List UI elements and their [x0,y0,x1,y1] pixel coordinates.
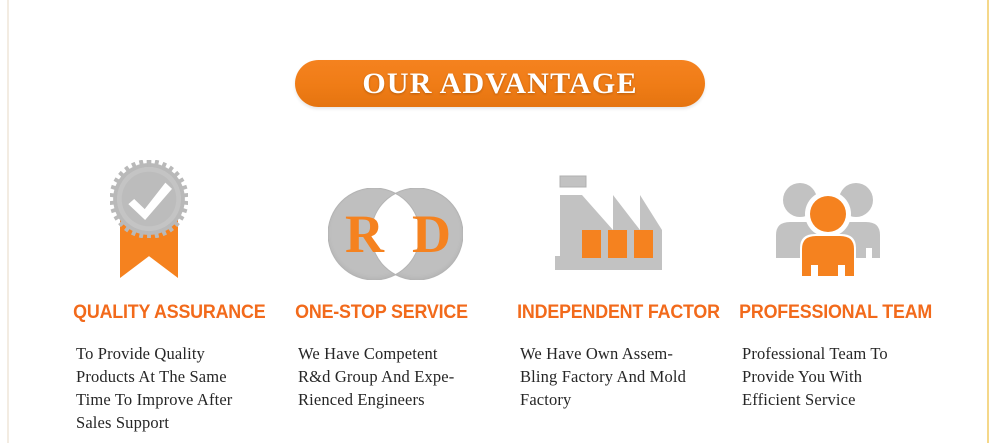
body-line: Bling Factory And Mold [520,365,720,388]
icon-container: R D [282,152,504,280]
body-line: Factory [520,388,720,411]
section-title-banner: OUR ADVANTAGE [295,60,705,107]
column-heading: INDEPENDENT FACTOR [504,302,713,324]
factory-icon [550,168,662,280]
team-people-icon [772,180,884,280]
badge-rosette-icon [110,160,188,238]
icon-container [504,152,726,280]
page-title: OUR ADVANTAGE [362,67,637,101]
people-group-shape [772,180,884,280]
advantage-column-quality-assurance: QUALITY ASSURANCE To Provide Quality Pro… [60,152,282,434]
body-line: R&d Group And Expe- [298,365,498,388]
column-heading: PROFESSIONAL TEAM [726,302,935,324]
body-line: To Provide Quality [76,342,276,365]
body-line: Professional Team To [742,342,942,365]
column-body: To Provide Quality Products At The Same … [60,342,282,434]
icon-container [60,152,282,280]
column-heading: ONE-STOP SERVICE [282,302,491,324]
advantage-section: OUR ADVANTAGE [0,0,1000,443]
advantage-column-one-stop-service: R D ONE-STOP SERVICE We Have Competent R… [282,152,504,434]
body-line: Time To Improve After [76,388,276,411]
body-line: Rienced Engineers [298,388,498,411]
rd-venn-icon: R D [328,188,463,280]
award-badge-icon [106,160,190,280]
body-line: Sales Support [76,411,276,434]
factory-shape [550,168,662,280]
venn-letter-d: D [412,207,451,261]
body-line: Provide You With [742,365,942,388]
advantage-columns: QUALITY ASSURANCE To Provide Quality Pro… [60,152,950,434]
body-line: We Have Own Assem- [520,342,720,365]
column-body: Professional Team To Provide You With Ef… [726,342,948,411]
icon-container [726,152,948,280]
body-line: Products At The Same [76,365,276,388]
body-line: We Have Competent [298,342,498,365]
column-body: We Have Competent R&d Group And Expe- Ri… [282,342,504,411]
body-line: Efficient Service [742,388,942,411]
advantage-column-independent-factor: INDEPENDENT FACTOR We Have Own Assem- Bl… [504,152,726,434]
venn-letter-r: R [345,207,384,261]
column-body: We Have Own Assem- Bling Factory And Mol… [504,342,726,411]
column-heading: QUALITY ASSURANCE [60,302,269,324]
banner-wrapper: OUR ADVANTAGE [0,60,1000,107]
advantage-column-professional-team: PROFESSIONAL TEAM Professional Team To P… [726,152,948,434]
